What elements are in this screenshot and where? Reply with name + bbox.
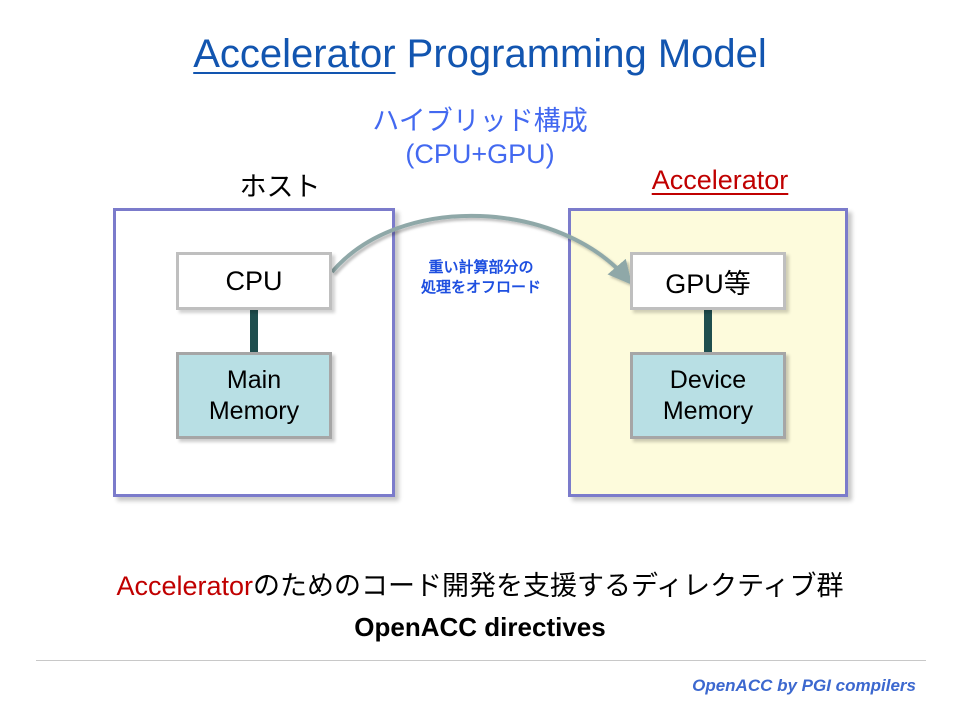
subtitle: ハイブリッド構成 (CPU+GPU) (0, 105, 960, 171)
main-memory-line-1: Main (227, 365, 281, 396)
subtitle-line-1: ハイブリッド構成 (0, 105, 960, 138)
host-label: ホスト (150, 165, 410, 204)
footer-divider (36, 660, 926, 661)
page-title: Accelerator Programming Model (0, 32, 960, 77)
offload-caption: 重い計算部分の 処理をオフロード (395, 258, 567, 298)
footer-text: OpenACC by PGI compilers (0, 676, 916, 696)
gpu-box-label: GPU等 (665, 262, 751, 301)
bottom-headline: OpenACC directives (0, 612, 960, 643)
cpu-memory-connector (250, 308, 258, 354)
gpu-memory-connector (704, 308, 712, 354)
cpu-box: CPU (176, 252, 332, 310)
accelerator-label: Accelerator (590, 165, 850, 196)
cpu-box-label: CPU (225, 266, 282, 297)
device-memory-box: Device Memory (630, 352, 786, 439)
main-memory-box: Main Memory (176, 352, 332, 439)
bottom-statement-keyword: Accelerator (116, 571, 253, 601)
gpu-box: GPU等 (630, 252, 786, 310)
offload-caption-line-1: 重い計算部分の (395, 258, 567, 278)
bottom-statement: Acceleratorのためのコード開発を支援するディレクティブ群 (0, 564, 960, 603)
main-memory-line-2: Memory (209, 396, 299, 427)
title-underlined-word: Accelerator (193, 32, 395, 76)
slide-canvas: Accelerator Programming Model ハイブリッド構成 (… (0, 0, 960, 720)
accelerator-label-text: Accelerator (652, 165, 789, 195)
device-memory-line-1: Device (670, 365, 746, 396)
offload-caption-line-2: 処理をオフロード (395, 278, 567, 298)
title-rest: Programming Model (396, 32, 767, 76)
device-memory-line-2: Memory (663, 396, 753, 427)
bottom-statement-rest: のためのコード開発を支援するディレクティブ群 (253, 571, 844, 601)
